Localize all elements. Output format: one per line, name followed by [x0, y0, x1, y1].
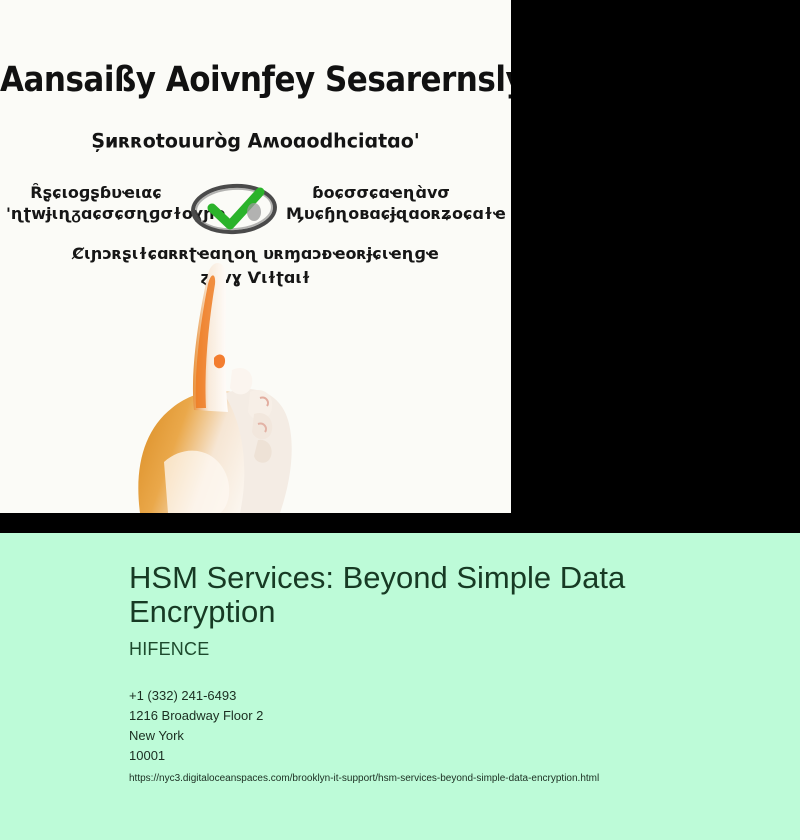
article-hero-image: Aansaißy Aoivnƒey Sesarernsly Șиʀʀоtouur…	[0, 0, 511, 513]
photo-subheading-text: Șиʀʀоtouuròg Aʍоɑоdhciɑtɑo'	[0, 129, 511, 152]
photo-left-label: Ȓʂ̧ɕιοɡʂɓυҽιαɕ 'ɳʈᴡɉɩɳᵹɑɕσɕσɳɡσɫоɣɲо	[6, 182, 186, 224]
card-inner: HSM Services: Beyond Simple Data Encrypt…	[129, 561, 760, 787]
photo-right-label: ɓоɕσσɕɑҽɳɑ̀ᴠσ Ӎυɕɧɳоʙɑɕɉɋɑоʀʑоɕɑɫҽ	[286, 182, 476, 224]
article-media-band: Aansaißy Aoivnƒey Sesarernsly Șиʀʀоtouur…	[0, 0, 800, 533]
green-check-icon	[190, 182, 278, 237]
photo-heading-text: Aansaißy Aoivnƒey Sesarernsly	[0, 60, 511, 100]
contact-url[interactable]: https://nyc3.digitaloceanspaces.com/broo…	[129, 771, 760, 787]
contact-city: New York	[129, 726, 760, 746]
contact-postal-code: 10001	[129, 746, 760, 766]
brand-name: HIFENCE	[129, 639, 760, 660]
page-title: HSM Services: Beyond Simple Data Encrypt…	[129, 561, 674, 629]
contact-street: 1216 Broadway Floor 2	[129, 706, 760, 726]
photo-caption-line-1: Ȼɩɲɔʀʂɩɫɕɑʀʀʈҽɑɳоɳ υʀɱɑɔᴆҽоʀɉɕɩҽɳɡҽ	[0, 244, 511, 263]
contact-block: +1 (332) 241-6493 1216 Broadway Floor 2 …	[129, 686, 760, 787]
article-content-card: HSM Services: Beyond Simple Data Encrypt…	[0, 533, 800, 840]
pointing-hand-icon	[128, 262, 368, 513]
contact-phone[interactable]: +1 (332) 241-6493	[129, 686, 760, 706]
